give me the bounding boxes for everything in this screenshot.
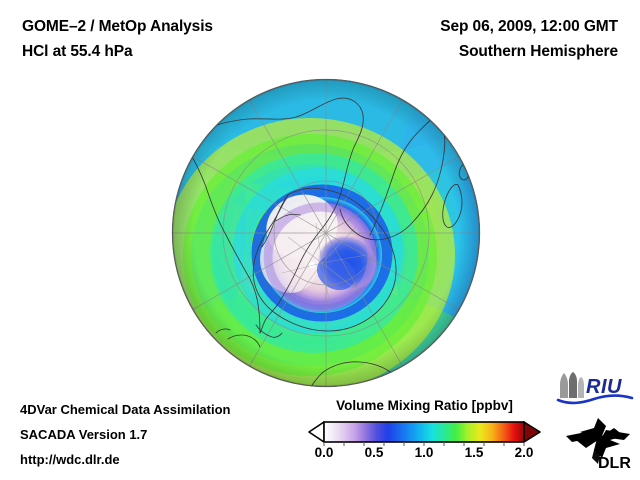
colorbar-tick-1: 0.5 <box>365 445 384 460</box>
colorbar-tick-0: 0.0 <box>315 445 334 460</box>
figure-root: GOME–2 / MetOp Analysis HCl at 55.4 hPa … <box>0 0 640 480</box>
title-species: HCl at 55.4 hPa <box>22 43 133 61</box>
colorbar-tick-labels: 0.0 0.5 1.0 1.5 2.0 <box>307 445 542 465</box>
colorbar-left-cap <box>309 422 324 442</box>
polar-stereographic-map <box>170 77 482 389</box>
map-disc <box>170 77 482 389</box>
riu-towers-icon <box>560 372 584 398</box>
colorbar-tick-4: 2.0 <box>515 445 534 460</box>
colorbar: Volume Mixing Ratio [ppbv] <box>307 398 542 476</box>
dlr-logo: DLR <box>562 414 636 472</box>
credit-line-assimilation: 4DVar Chemical Data Assimilation <box>20 402 231 417</box>
limb-shading <box>172 79 480 387</box>
colorbar-bar <box>324 422 524 442</box>
credit-line-url: http://wdc.dlr.de <box>20 452 120 467</box>
riu-logo: RIU <box>556 372 634 406</box>
colorbar-title: Volume Mixing Ratio [ppbv] <box>307 398 542 413</box>
riu-wordmark: RIU <box>586 376 622 398</box>
dlr-wordmark: DLR <box>598 455 631 472</box>
colorbar-tick-3: 1.5 <box>465 445 484 460</box>
title-region: Southern Hemisphere <box>459 43 618 61</box>
title-instrument: GOME–2 / MetOp Analysis <box>22 18 213 36</box>
colorbar-tick-2: 1.0 <box>415 445 434 460</box>
title-datetime: Sep 06, 2009, 12:00 GMT <box>440 18 618 36</box>
colorbar-gradient <box>307 420 542 446</box>
credit-line-version: SACADA Version 1.7 <box>20 427 147 442</box>
colorbar-right-cap <box>524 422 540 442</box>
